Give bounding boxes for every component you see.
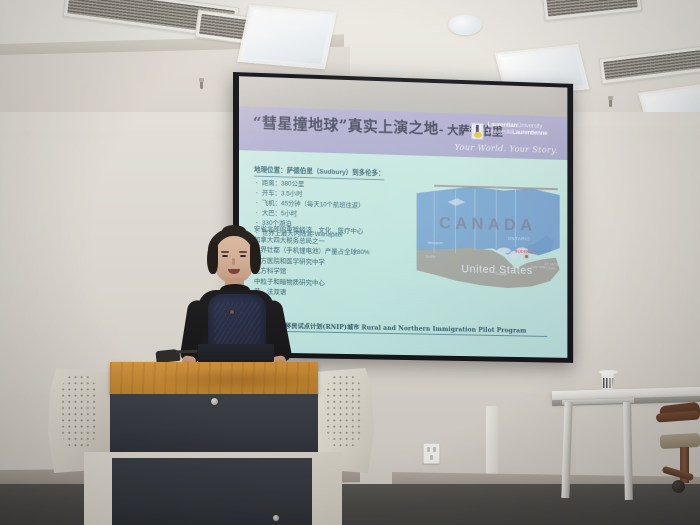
laptop [198, 344, 274, 362]
round-ceiling-light [448, 14, 482, 35]
map-label-new-york: New York [531, 265, 545, 269]
hair-side-right [250, 242, 261, 274]
speaker-grille-left [60, 374, 98, 448]
podium-base-front [112, 458, 312, 525]
map-label-seattle: Seattle [425, 255, 435, 259]
map-label-atlantic-ocean: ATLANTIC OCEAN [544, 263, 561, 270]
table-leg [623, 402, 633, 500]
slide-title-rest: 真实上演之地 [348, 117, 439, 138]
ceiling-light-panel [237, 5, 337, 70]
sprinkler-head-icon [607, 96, 614, 107]
map-label-sudbury: SUDBURY [515, 249, 537, 254]
lecture-hall-photo: “彗星撞地球”真实上演之地- 大萨德伯里 LaurentianUniversit… [0, 0, 700, 525]
logo-text: LaurentianUniversity UniversitéLaurentie… [488, 122, 548, 137]
nose [232, 258, 235, 265]
logo-line2-light: Université [488, 128, 513, 136]
map-marker-sudbury [525, 255, 528, 258]
map-label-vancouver: Vancouver [427, 241, 443, 245]
map-label-chicago: Chicago [495, 272, 507, 276]
chair-caster [672, 480, 685, 493]
eyebrow-left [221, 251, 229, 253]
podium-wood-top [110, 362, 318, 394]
map-label-canada: CANADA [439, 213, 536, 235]
map-shapes [415, 175, 562, 299]
power-outlet-icon [423, 443, 440, 464]
speaker-grille-right [325, 374, 363, 448]
podium [48, 358, 388, 525]
logo-line2-bold: Laurentienne [512, 129, 547, 137]
podium-lock-icon [273, 515, 279, 521]
podium-lock-icon [211, 398, 218, 405]
laurentian-shield-icon [471, 123, 484, 140]
vest-button [230, 310, 234, 314]
hair-side-left [207, 242, 218, 274]
eyebrow-right [239, 251, 247, 253]
slide-lead-line: 地理位置：萨德伯里（Sudbury）到多伦多： [254, 166, 385, 181]
sprinkler-head-icon [198, 78, 205, 89]
map-label-ontario: ONTARIO [508, 236, 530, 241]
slide-title-main: “彗星撞地球” [253, 114, 348, 135]
north-america-map: CANADA United States ONTARIO SUDBURY Van… [415, 175, 562, 299]
